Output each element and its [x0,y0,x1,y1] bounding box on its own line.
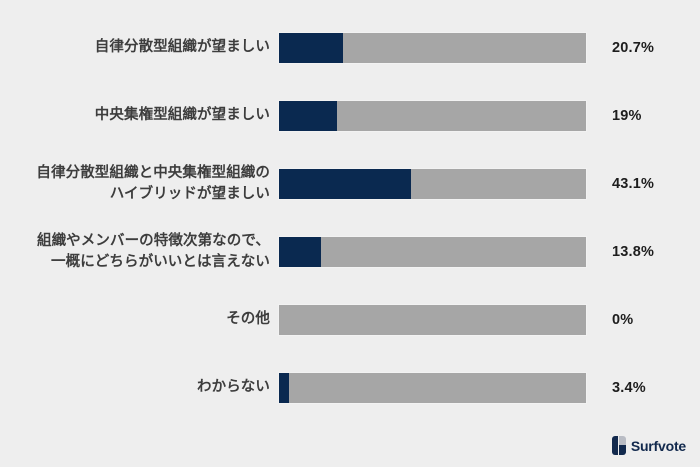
bar-category-label: わからない [0,377,278,398]
table-row: わからない 3.4% [0,354,700,422]
bar-track [278,168,587,200]
bar-chart: 自律分散型組織が望ましい 20.7% 中央集権型組織が望ましい 19% 自律分散… [0,0,700,467]
table-row: 自律分散型組織と中央集権型組織の ハイブリッドが望ましい 43.1% [0,150,700,218]
bar-value-label: 3.4% [594,380,700,396]
bar-track-wrapper [278,32,594,64]
bar-track-wrapper [278,304,594,336]
bar-category-label: その他 [0,309,278,330]
bar-value-label: 0% [594,312,700,328]
bar-track [278,372,587,404]
bar-track-wrapper [278,236,594,268]
table-row: 自律分散型組織が望ましい 20.7% [0,14,700,82]
bar-track [278,236,587,268]
surfvote-logo-icon [612,436,626,455]
bar-track [278,32,587,64]
bar-fill [279,373,289,403]
table-row: 組織やメンバーの特徴次第なので、 一概にどちらがいいとは言えない 13.8% [0,218,700,286]
bar-track [278,100,587,132]
bar-track [278,304,587,336]
bar-fill [279,101,337,131]
logo-lobe-right [619,436,626,455]
bar-rows-container: 自律分散型組織が望ましい 20.7% 中央集権型組織が望ましい 19% 自律分散… [0,0,700,425]
logo-lobe-left [612,436,618,455]
brand-logo: Surfvote [612,436,686,455]
bar-category-label: 自律分散型組織が望ましい [0,37,278,58]
bar-value-label: 19% [594,108,700,124]
bar-fill [279,169,411,199]
bar-category-label: 中央集権型組織が望ましい [0,105,278,126]
table-row: 中央集権型組織が望ましい 19% [0,82,700,150]
bar-value-label: 43.1% [594,176,700,192]
bar-category-label: 組織やメンバーの特徴次第なので、 一概にどちらがいいとは言えない [0,231,278,273]
bar-value-label: 13.8% [594,244,700,260]
bar-track-wrapper [278,100,594,132]
bar-track-wrapper [278,372,594,404]
bar-category-label: 自律分散型組織と中央集権型組織の ハイブリッドが望ましい [0,163,278,205]
bar-fill [279,33,343,63]
table-row: その他 0% [0,286,700,354]
bar-value-label: 20.7% [594,40,700,56]
brand-name: Surfvote [631,438,686,454]
bar-fill [279,237,321,267]
bar-track-wrapper [278,168,594,200]
